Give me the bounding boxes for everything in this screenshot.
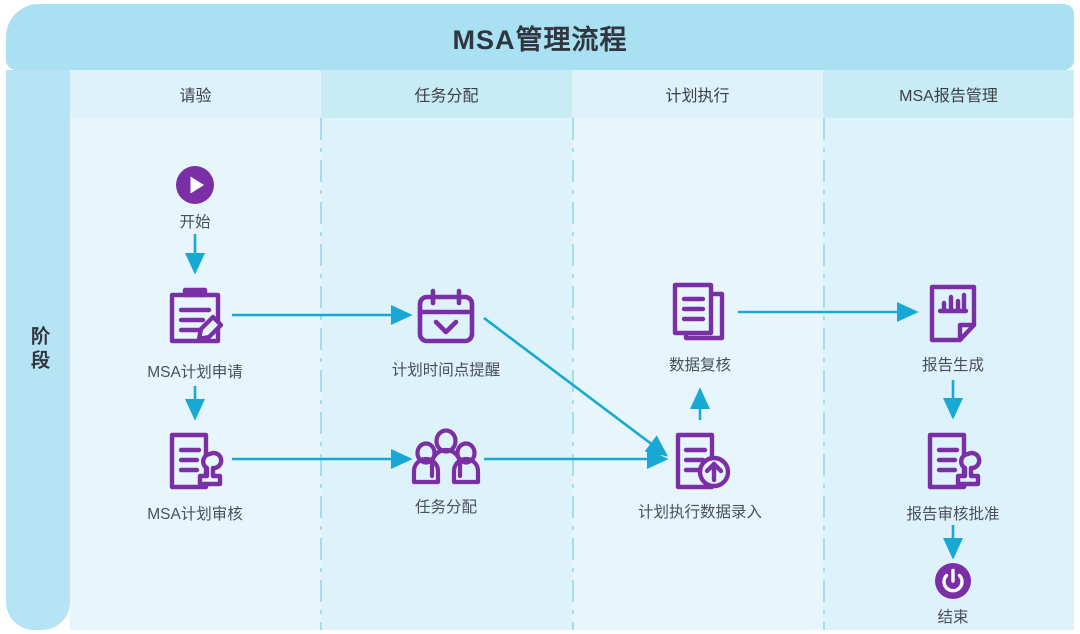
- power-off-icon: [932, 560, 974, 602]
- column-header-label: MSA报告管理: [899, 82, 998, 106]
- document-stamp-icon: [917, 425, 989, 497]
- page-title: MSA管理流程: [453, 18, 628, 57]
- node-label: 任务分配: [415, 495, 477, 517]
- node-label: 报告生成: [922, 353, 984, 375]
- node-task-assign[interactable]: 任务分配: [371, 428, 521, 517]
- node-label: MSA计划审核: [147, 502, 243, 524]
- column-divider-2: [572, 118, 574, 630]
- column-header-label: 任务分配: [414, 82, 478, 106]
- node-data-entry[interactable]: 计划执行数据录入: [625, 425, 775, 522]
- node-time-remind[interactable]: 计划时间点提醒: [371, 283, 521, 380]
- flowchart-page: MSA管理流程 阶段 请验 任务分配 计划执行 MSA报告管理: [0, 0, 1080, 634]
- node-end[interactable]: 结束: [878, 560, 1028, 627]
- node-label: 报告审核批准: [906, 502, 999, 524]
- document-stamp-icon: [159, 425, 231, 497]
- calendar-chevron-icon: [411, 283, 481, 353]
- column-header-msabaogaoguanli: MSA报告管理: [823, 70, 1074, 118]
- node-start[interactable]: 开始: [120, 163, 270, 232]
- node-report-gen[interactable]: 报告生成: [878, 278, 1028, 375]
- people-group-icon: [411, 428, 481, 490]
- stage-rail: 阶段: [6, 70, 70, 630]
- play-circle-icon: [173, 163, 217, 207]
- column-header-label: 计划执行: [665, 82, 729, 106]
- stacked-documents-icon: [666, 278, 734, 348]
- column-header-jihuazhixing: 计划执行: [572, 70, 823, 118]
- node-label: 开始: [179, 210, 210, 232]
- node-label: 计划执行数据录入: [638, 500, 762, 522]
- clipboard-pen-icon: [158, 281, 232, 355]
- column-divider-1: [320, 118, 322, 630]
- node-plan-apply[interactable]: MSA计划申请: [120, 281, 270, 382]
- document-chart-icon: [921, 278, 985, 348]
- node-label: MSA计划申请: [147, 360, 243, 382]
- node-label: 结束: [937, 605, 968, 627]
- stage-rail-label: 阶段: [28, 326, 48, 374]
- column-header-label: 请验: [179, 82, 211, 106]
- document-upload-icon: [665, 425, 735, 495]
- node-label: 数据复核: [669, 353, 731, 375]
- column-divider-3: [823, 118, 825, 630]
- node-report-approval[interactable]: 报告审核批准: [878, 425, 1028, 524]
- column-header-renwufenpei: 任务分配: [321, 70, 572, 118]
- node-data-recheck[interactable]: 数据复核: [625, 278, 775, 375]
- title-bar: MSA管理流程: [6, 4, 1074, 70]
- node-label: 计划时间点提醒: [392, 358, 501, 380]
- node-plan-review[interactable]: MSA计划审核: [120, 425, 270, 524]
- column-header-row: 请验 任务分配 计划执行 MSA报告管理: [70, 70, 1074, 118]
- column-header-qingyan: 请验: [70, 70, 321, 118]
